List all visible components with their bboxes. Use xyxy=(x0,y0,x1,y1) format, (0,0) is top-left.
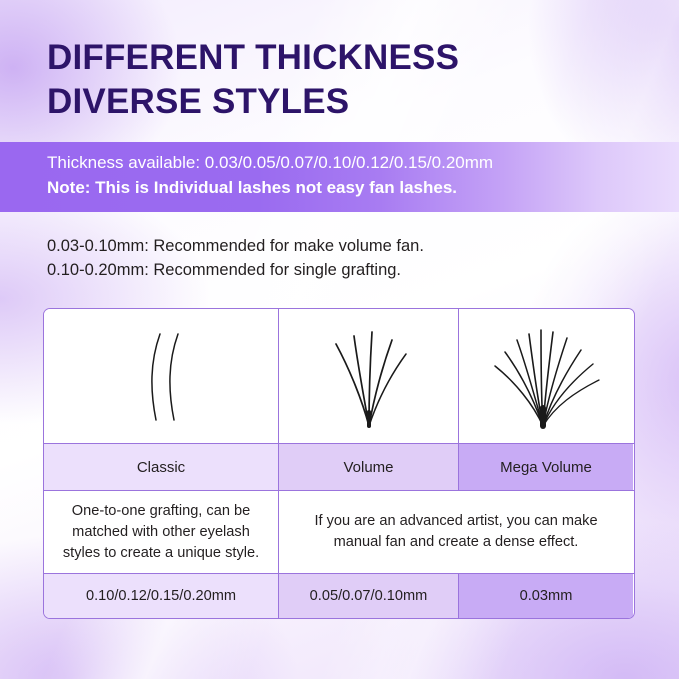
style-label-volume: Volume xyxy=(278,444,458,490)
description-classic: One-to-one grafting, can be matched with… xyxy=(44,491,278,573)
table-row-style-labels: Classic Volume Mega Volume xyxy=(44,443,634,490)
thickness-classic: 0.10/0.12/0.15/0.20mm xyxy=(44,574,278,618)
infographic-page: DIFFERENT THICKNESS DIVERSE STYLES Thick… xyxy=(0,0,679,679)
style-label-classic: Classic xyxy=(44,444,278,490)
style-label-mega-volume: Mega Volume xyxy=(458,444,633,490)
table-row-illustrations xyxy=(44,309,634,443)
banner-note-text: Note: This is Individual lashes not easy… xyxy=(47,175,679,200)
thickness-available-text: Thickness available: 0.03/0.05/0.07/0.10… xyxy=(47,150,679,175)
classic-lash-icon xyxy=(116,316,206,436)
thickness-volume: 0.05/0.07/0.10mm xyxy=(278,574,458,618)
page-title-line-2: DIVERSE STYLES xyxy=(47,80,647,124)
thickness-banner: Thickness available: 0.03/0.05/0.07/0.10… xyxy=(0,142,679,212)
classic-illustration-cell xyxy=(44,309,278,443)
thickness-mega-volume: 0.03mm xyxy=(458,574,633,618)
recommendation-item-1: 0.03-0.10mm: Recommended for make volume… xyxy=(47,234,424,258)
description-volume-mega: If you are an advanced artist, you can m… xyxy=(278,491,633,573)
mega-volume-illustration-cell xyxy=(458,309,633,443)
recommendation-item-2: 0.10-0.20mm: Recommended for single graf… xyxy=(47,258,424,282)
table-row-thickness: 0.10/0.12/0.15/0.20mm 0.05/0.07/0.10mm 0… xyxy=(44,573,634,618)
mega-volume-lash-fan-icon xyxy=(481,316,611,436)
recommendation-list: 0.03-0.10mm: Recommended for make volume… xyxy=(47,234,424,282)
volume-lash-fan-icon xyxy=(314,316,424,436)
lash-comparison-table: Classic Volume Mega Volume One-to-one gr… xyxy=(43,308,635,619)
page-title: DIFFERENT THICKNESS DIVERSE STYLES xyxy=(47,36,647,124)
volume-illustration-cell xyxy=(278,309,458,443)
page-title-line-1: DIFFERENT THICKNESS xyxy=(47,38,459,77)
table-row-descriptions: One-to-one grafting, can be matched with… xyxy=(44,490,634,573)
